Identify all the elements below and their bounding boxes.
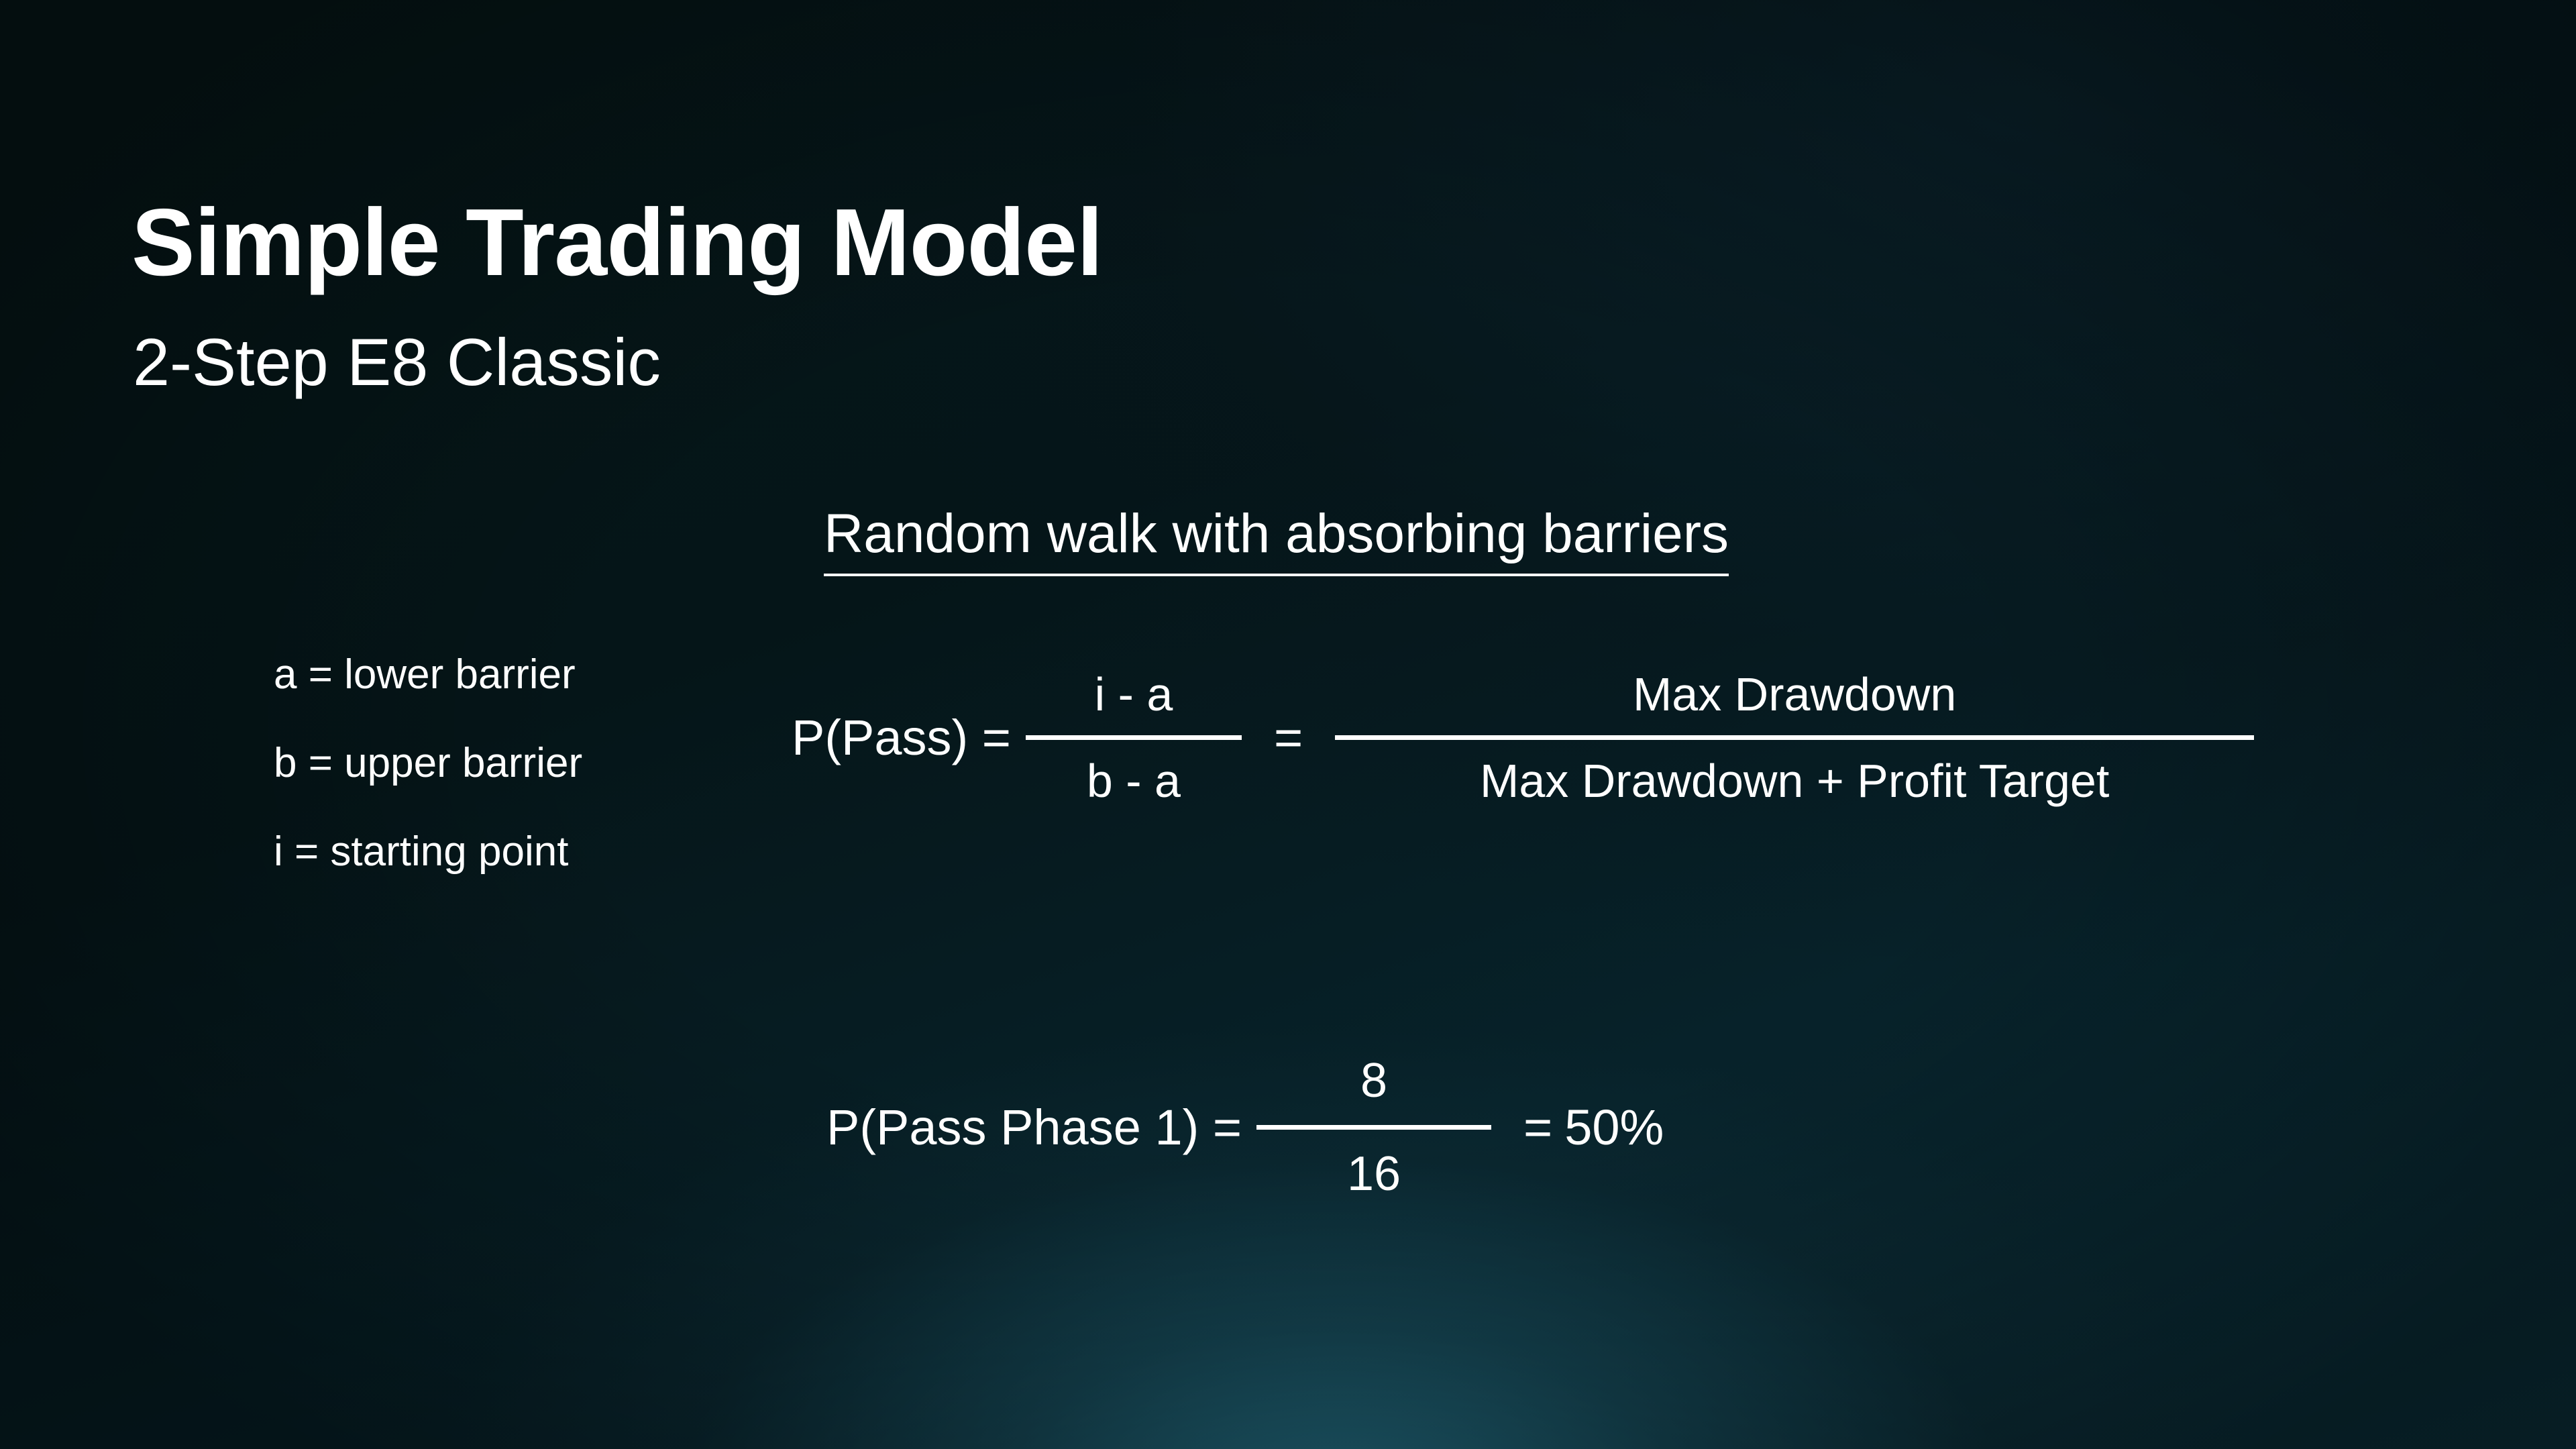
fraction-bar xyxy=(1335,735,2254,740)
fraction-bar xyxy=(1026,735,1242,740)
fraction-numerator: i - a xyxy=(1095,671,1173,718)
fraction-denominator: Max Drawdown + Profit Target xyxy=(1480,757,2109,804)
fraction-max-drawdown-over-total: Max Drawdown Max Drawdown + Profit Targe… xyxy=(1335,671,2254,804)
fraction-i-minus-a-over-b-minus-a: i - a b - a xyxy=(1026,671,1242,804)
fraction-denominator: 16 xyxy=(1347,1150,1401,1198)
fraction-bar xyxy=(1256,1125,1491,1130)
equation-label-p-pass: P(Pass) = xyxy=(792,713,1011,763)
equation-p-pass-phase-1: P(Pass Phase 1) = 8 16 = 50% xyxy=(826,1057,1664,1198)
legend-item-upper-barrier: b = upper barrier xyxy=(274,743,582,784)
fraction-numerator: 8 xyxy=(1360,1057,1387,1105)
equation-result-percentage: 50% xyxy=(1564,1103,1664,1152)
legend-item-starting-point: i = starting point xyxy=(274,831,582,873)
equation-label-p-pass-phase-1: P(Pass Phase 1) = xyxy=(826,1103,1242,1152)
legend-item-lower-barrier: a = lower barrier xyxy=(274,654,582,696)
fraction-numerator: Max Drawdown xyxy=(1633,671,1956,718)
section-heading: Random walk with absorbing barriers xyxy=(824,506,1729,576)
slide-canvas: Simple Trading Model 2-Step E8 Classic R… xyxy=(0,0,2576,1449)
variable-legend: a = lower barrier b = upper barrier i = … xyxy=(274,654,582,873)
equals-sign: = xyxy=(1523,1103,1552,1152)
equals-sign: = xyxy=(1274,713,1303,763)
page-title: Simple Trading Model xyxy=(131,195,1103,290)
equation-p-pass: P(Pass) = i - a b - a = Max Drawdown Max… xyxy=(792,671,2269,804)
fraction-denominator: b - a xyxy=(1087,757,1181,804)
fraction-8-over-16: 8 16 xyxy=(1256,1057,1491,1198)
page-subtitle: 2-Step E8 Classic xyxy=(133,329,661,395)
